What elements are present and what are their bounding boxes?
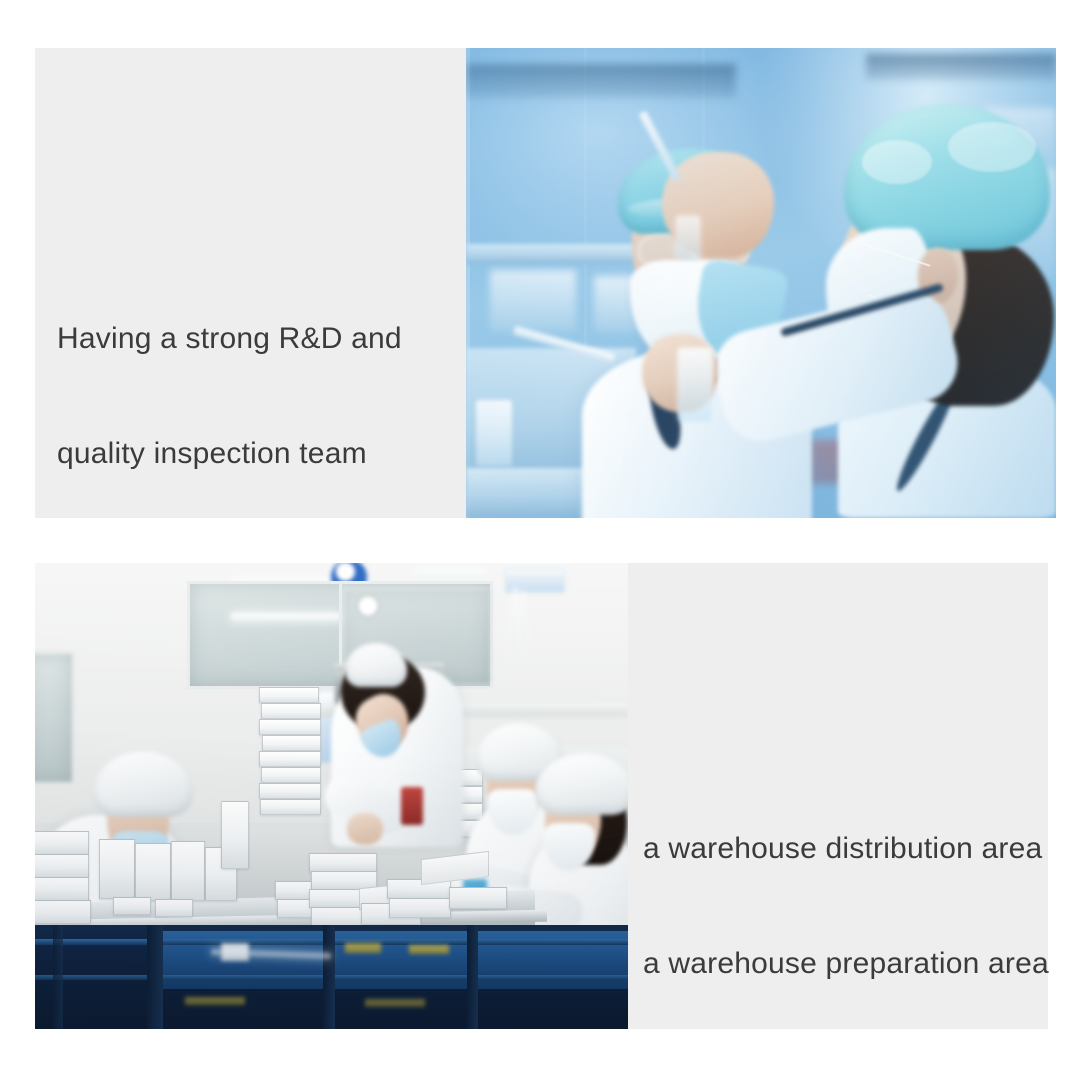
warehouse-caption: a warehouse distribution area a warehous… [643,753,1053,1060]
rnd-caption: Having a strong R&D and quality inspecti… [57,243,457,550]
lab-quality-photo [466,48,1056,518]
lab-color-grade [466,48,1056,518]
warehouse-color-grade [35,563,628,1029]
warehouse-caption-line-2: a warehouse preparation area [643,945,1053,983]
warehouse-packing-photo [35,563,628,1029]
warehouse-caption-line-1: a warehouse distribution area [643,830,1053,868]
rnd-caption-line-1: Having a strong R&D and [57,320,457,358]
rnd-caption-line-2: quality inspection team [57,435,457,473]
page-canvas: Having a strong R&D and quality inspecti… [0,0,1080,1080]
